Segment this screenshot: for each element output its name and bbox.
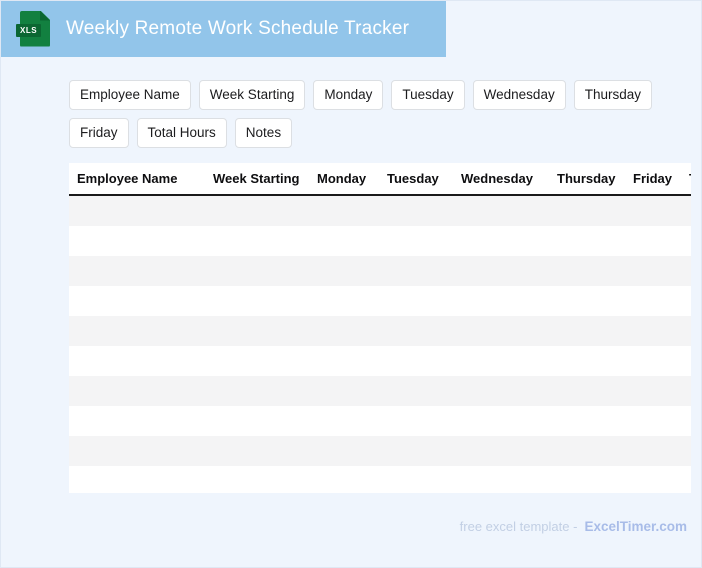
column-header-total-hours[interactable]: Total Hours bbox=[689, 163, 691, 195]
cell-week[interactable] bbox=[213, 346, 317, 376]
cell-employee[interactable] bbox=[69, 256, 213, 286]
chip-monday[interactable]: Monday bbox=[313, 80, 383, 110]
cell-wednesday[interactable] bbox=[461, 195, 557, 226]
table-row[interactable] bbox=[69, 406, 691, 436]
chip-tuesday[interactable]: Tuesday bbox=[391, 80, 464, 110]
cell-friday[interactable] bbox=[633, 226, 689, 256]
cell-monday[interactable] bbox=[317, 256, 387, 286]
footer-brand-link[interactable]: ExcelTimer.com bbox=[584, 519, 687, 534]
cell-monday[interactable] bbox=[317, 316, 387, 346]
schedule-table-body bbox=[69, 195, 691, 493]
cell-thursday[interactable] bbox=[557, 406, 633, 436]
cell-monday[interactable] bbox=[317, 226, 387, 256]
cell-wednesday[interactable] bbox=[461, 436, 557, 466]
cell-total[interactable] bbox=[689, 226, 691, 256]
cell-wednesday[interactable] bbox=[461, 286, 557, 316]
cell-friday[interactable] bbox=[633, 406, 689, 436]
table-header-row: Employee Name Week Starting Monday Tuesd… bbox=[69, 163, 691, 195]
chip-notes[interactable]: Notes bbox=[235, 118, 292, 148]
table-row[interactable] bbox=[69, 226, 691, 256]
cell-wednesday[interactable] bbox=[461, 406, 557, 436]
cell-monday[interactable] bbox=[317, 346, 387, 376]
cell-thursday[interactable] bbox=[557, 316, 633, 346]
chip-friday[interactable]: Friday bbox=[69, 118, 129, 148]
table-row[interactable] bbox=[69, 316, 691, 346]
cell-employee[interactable] bbox=[69, 226, 213, 256]
cell-total[interactable] bbox=[689, 256, 691, 286]
cell-employee[interactable] bbox=[69, 316, 213, 346]
cell-total[interactable] bbox=[689, 406, 691, 436]
column-header-thursday[interactable]: Thursday bbox=[557, 163, 633, 195]
app-header-bar: XLS Weekly Remote Work Schedule Tracker bbox=[0, 0, 446, 57]
column-header-employee-name[interactable]: Employee Name bbox=[69, 163, 213, 195]
cell-thursday[interactable] bbox=[557, 195, 633, 226]
table-row[interactable] bbox=[69, 466, 691, 493]
cell-week[interactable] bbox=[213, 195, 317, 226]
cell-week[interactable] bbox=[213, 376, 317, 406]
cell-employee[interactable] bbox=[69, 406, 213, 436]
cell-friday[interactable] bbox=[633, 376, 689, 406]
cell-tuesday[interactable] bbox=[387, 436, 461, 466]
cell-monday[interactable] bbox=[317, 286, 387, 316]
footer-caption: free excel template - bbox=[460, 519, 578, 534]
cell-total[interactable] bbox=[689, 346, 691, 376]
cell-week[interactable] bbox=[213, 316, 317, 346]
xls-file-icon: XLS bbox=[20, 11, 50, 47]
cell-monday[interactable] bbox=[317, 406, 387, 436]
cell-friday[interactable] bbox=[633, 256, 689, 286]
cell-tuesday[interactable] bbox=[387, 316, 461, 346]
cell-monday[interactable] bbox=[317, 466, 387, 493]
cell-total[interactable] bbox=[689, 436, 691, 466]
cell-monday[interactable] bbox=[317, 195, 387, 226]
cell-week[interactable] bbox=[213, 436, 317, 466]
cell-wednesday[interactable] bbox=[461, 376, 557, 406]
cell-tuesday[interactable] bbox=[387, 256, 461, 286]
cell-tuesday[interactable] bbox=[387, 286, 461, 316]
cell-tuesday[interactable] bbox=[387, 406, 461, 436]
schedule-table-head: Employee Name Week Starting Monday Tuesd… bbox=[69, 163, 691, 195]
column-chip-list: Employee Name Week Starting Monday Tuesd… bbox=[69, 80, 669, 148]
cell-friday[interactable] bbox=[633, 436, 689, 466]
cell-week[interactable] bbox=[213, 256, 317, 286]
column-header-tuesday[interactable]: Tuesday bbox=[387, 163, 461, 195]
cell-thursday[interactable] bbox=[557, 346, 633, 376]
cell-wednesday[interactable] bbox=[461, 256, 557, 286]
cell-week[interactable] bbox=[213, 286, 317, 316]
file-icon-badge-label: XLS bbox=[16, 24, 41, 37]
table-row[interactable] bbox=[69, 195, 691, 226]
chip-thursday[interactable]: Thursday bbox=[574, 80, 652, 110]
cell-employee[interactable] bbox=[69, 436, 213, 466]
cell-week[interactable] bbox=[213, 466, 317, 493]
page-title: Weekly Remote Work Schedule Tracker bbox=[66, 18, 409, 40]
cell-friday[interactable] bbox=[633, 316, 689, 346]
cell-tuesday[interactable] bbox=[387, 346, 461, 376]
column-header-week-starting[interactable]: Week Starting bbox=[213, 163, 317, 195]
chip-wednesday[interactable]: Wednesday bbox=[473, 80, 566, 110]
cell-tuesday[interactable] bbox=[387, 226, 461, 256]
cell-total[interactable] bbox=[689, 316, 691, 346]
column-header-wednesday[interactable]: Wednesday bbox=[461, 163, 557, 195]
cell-employee[interactable] bbox=[69, 346, 213, 376]
cell-tuesday[interactable] bbox=[387, 376, 461, 406]
cell-employee[interactable] bbox=[69, 286, 213, 316]
cell-friday[interactable] bbox=[633, 466, 689, 493]
cell-week[interactable] bbox=[213, 226, 317, 256]
chip-week-starting[interactable]: Week Starting bbox=[199, 80, 306, 110]
cell-tuesday[interactable] bbox=[387, 195, 461, 226]
cell-thursday[interactable] bbox=[557, 376, 633, 406]
cell-friday[interactable] bbox=[633, 195, 689, 226]
chip-total-hours[interactable]: Total Hours bbox=[137, 118, 227, 148]
chip-employee-name[interactable]: Employee Name bbox=[69, 80, 191, 110]
cell-wednesday[interactable] bbox=[461, 226, 557, 256]
cell-wednesday[interactable] bbox=[461, 316, 557, 346]
file-icon-fold bbox=[40, 11, 50, 21]
page-root: XLS Weekly Remote Work Schedule Tracker … bbox=[0, 0, 702, 568]
cell-week[interactable] bbox=[213, 406, 317, 436]
column-header-monday[interactable]: Monday bbox=[317, 163, 387, 195]
cell-tuesday[interactable] bbox=[387, 466, 461, 493]
schedule-table: Employee Name Week Starting Monday Tuesd… bbox=[69, 163, 691, 493]
cell-monday[interactable] bbox=[317, 376, 387, 406]
cell-thursday[interactable] bbox=[557, 256, 633, 286]
cell-total[interactable] bbox=[689, 466, 691, 493]
cell-total[interactable] bbox=[689, 286, 691, 316]
cell-friday[interactable] bbox=[633, 286, 689, 316]
schedule-table-container[interactable]: Employee Name Week Starting Monday Tuesd… bbox=[69, 163, 691, 493]
cell-employee[interactable] bbox=[69, 376, 213, 406]
cell-employee[interactable] bbox=[69, 195, 213, 226]
footer: free excel template - ExcelTimer.com bbox=[460, 519, 687, 534]
cell-total[interactable] bbox=[689, 376, 691, 406]
cell-thursday[interactable] bbox=[557, 466, 633, 493]
cell-friday[interactable] bbox=[633, 346, 689, 376]
cell-thursday[interactable] bbox=[557, 226, 633, 256]
table-row[interactable] bbox=[69, 286, 691, 316]
cell-monday[interactable] bbox=[317, 436, 387, 466]
table-row[interactable] bbox=[69, 376, 691, 406]
table-row[interactable] bbox=[69, 436, 691, 466]
cell-thursday[interactable] bbox=[557, 436, 633, 466]
cell-total[interactable] bbox=[689, 195, 691, 226]
table-row[interactable] bbox=[69, 346, 691, 376]
cell-wednesday[interactable] bbox=[461, 346, 557, 376]
column-header-friday[interactable]: Friday bbox=[633, 163, 689, 195]
table-row[interactable] bbox=[69, 256, 691, 286]
cell-employee[interactable] bbox=[69, 466, 213, 493]
cell-thursday[interactable] bbox=[557, 286, 633, 316]
cell-wednesday[interactable] bbox=[461, 466, 557, 493]
